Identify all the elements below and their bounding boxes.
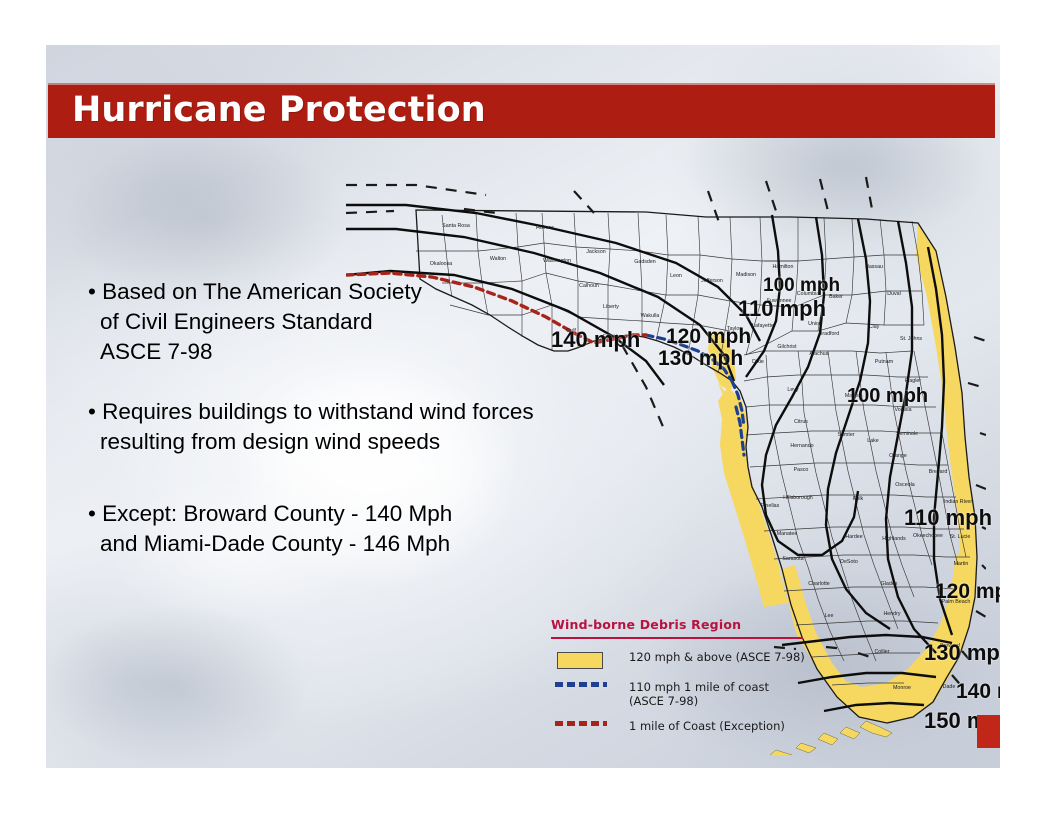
legend-key	[551, 719, 629, 726]
county-label: Polk	[853, 496, 864, 502]
county-label: Hendry	[883, 611, 900, 617]
map-legend: Wind-borne Debris Region 120 mph & above…	[551, 617, 811, 744]
county-label: Calhoun	[579, 283, 599, 289]
county-label: Washington	[543, 258, 571, 264]
county-label: Jackson	[586, 249, 605, 255]
county-label: Dade	[943, 684, 956, 690]
legend-title: Wind-borne Debris Region	[551, 617, 811, 632]
county-label: Orange	[889, 453, 907, 459]
wind-speed-label: 120 mph	[935, 580, 1000, 604]
cloud-shadow	[46, 605, 306, 765]
county-label: Liberty	[603, 304, 619, 310]
wind-speed-label: 130 mph	[658, 347, 743, 371]
county-label: DeSoto	[840, 559, 858, 565]
page-title: Hurricane Protection	[72, 90, 486, 130]
county-label: Putnam	[875, 359, 894, 365]
county-label: Bradford	[819, 331, 839, 337]
county-label: Sumter	[837, 432, 854, 438]
wind-speed-label: 130 mph	[924, 640, 1000, 666]
decorative-red-square	[977, 715, 1000, 748]
county-label: Dixie	[752, 359, 764, 365]
wind-speed-label: 140 mph	[551, 327, 640, 353]
county-label: Charlotte	[808, 581, 830, 587]
legend-label: 110 mph 1 mile of coast (ASCE 7-98)	[629, 680, 769, 708]
county-label: Hardee	[845, 534, 862, 540]
county-label: Madison	[736, 272, 756, 278]
legend-key	[551, 680, 629, 687]
legend-row: 110 mph 1 mile of coast (ASCE 7-98)	[551, 680, 811, 708]
county-label: Hernando	[790, 443, 813, 449]
county-label: Jefferson	[701, 278, 723, 284]
legend-label: 120 mph & above (ASCE 7-98)	[629, 650, 805, 664]
county-label: Okeechobee	[913, 533, 943, 539]
blue-dashed-line-icon	[555, 682, 607, 687]
wind-speed-label: 100 mph	[847, 385, 928, 408]
wind-speed-label: 110 mph	[738, 296, 826, 322]
legend-row: 1 mile of Coast (Exception)	[551, 719, 811, 733]
county-label: Duval	[887, 291, 901, 297]
yellow-swatch-icon	[557, 652, 603, 669]
county-label: Sarasota	[782, 556, 803, 562]
county-label: St. Lucie	[950, 534, 971, 540]
wind-speed-label: 110 mph	[904, 505, 992, 531]
county-label: Flagler	[905, 378, 921, 384]
county-label: Brevard	[929, 469, 948, 475]
county-label: Wakulla	[641, 313, 660, 319]
legend-label: 1 mile of Coast (Exception)	[629, 719, 785, 733]
county-label: Holmes	[536, 225, 554, 231]
county-label: Manatee	[777, 531, 798, 537]
county-label: Lafayette	[752, 323, 774, 329]
county-label: Highlands	[882, 536, 906, 542]
county-label: Lake	[867, 438, 879, 444]
county-label: Collier	[874, 649, 889, 655]
county-label: Monroe	[893, 685, 911, 691]
county-label: Glades	[881, 581, 898, 587]
county-label: Nassau	[865, 264, 883, 270]
county-label: Lee	[825, 613, 834, 619]
county-label: Leon	[670, 273, 682, 279]
county-label: Alachua	[809, 351, 828, 357]
county-label: Pinellas	[761, 503, 780, 509]
county-label: Hillsborough	[783, 495, 812, 501]
county-label: Gadsden	[634, 259, 656, 265]
legend-row: 120 mph & above (ASCE 7-98)	[551, 650, 811, 669]
county-label: Osceola	[895, 482, 914, 488]
county-label: Citrus	[794, 419, 808, 425]
title-bar: Hurricane Protection	[48, 85, 995, 138]
county-label: Martin	[954, 561, 969, 567]
county-label: Gilchrist	[777, 344, 797, 350]
county-label: Seminole	[896, 431, 918, 437]
legend-key	[551, 650, 629, 669]
county-label: Levy	[787, 387, 799, 393]
legend-divider	[551, 637, 803, 639]
county-label: Pasco	[794, 467, 809, 473]
county-label: Santa Rosa	[442, 223, 470, 229]
wind-speed-label: 140 mph	[956, 680, 1000, 704]
wind-speed-label: 100 mph	[763, 275, 840, 297]
county-label: Okaloosa	[430, 261, 452, 267]
county-label: Hamilton	[773, 264, 794, 270]
red-dashed-line-icon	[555, 721, 607, 726]
county-label: Walton	[490, 256, 506, 262]
county-label: Clay	[869, 324, 880, 330]
county-label: St. Johns	[900, 336, 922, 342]
wind-speed-label: 120 mph	[666, 325, 751, 349]
slide: Hurricane Protection • Based on The Amer…	[46, 45, 1000, 768]
